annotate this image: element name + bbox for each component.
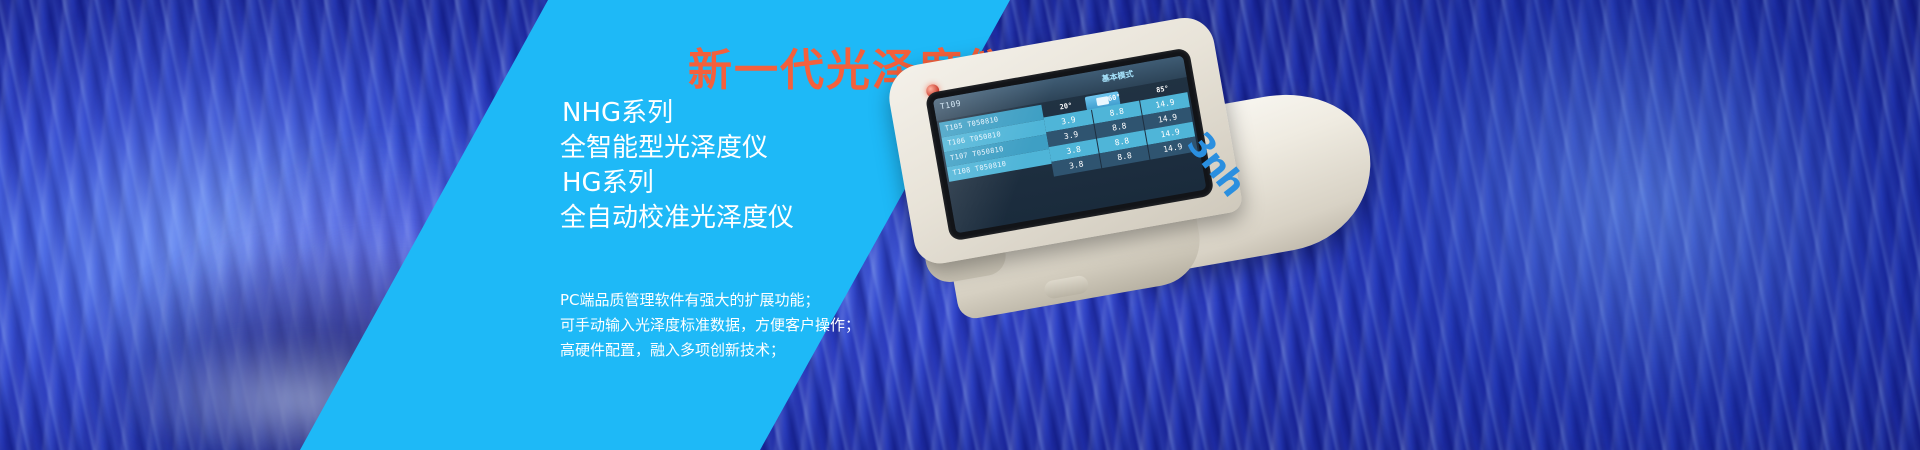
- device-screen-bezel: T109 基本模式 10:51 2019.05.08 T105 T050810 …: [925, 47, 1215, 241]
- device-screen: T109 基本模式 10:51 2019.05.08 T105 T050810 …: [933, 55, 1207, 233]
- device-body: T109 基本模式 10:51 2019.05.08 T105 T050810 …: [884, 0, 1396, 405]
- promo-banner: 新一代光泽度仪 NHG系列 全智能型光泽度仪 HG系列 全自动校准光泽度仪 PC…: [0, 0, 1920, 450]
- screen-glare: [933, 55, 1207, 233]
- gloss-meter-device: T109 基本模式 10:51 2019.05.08 T105 T050810 …: [880, 18, 1400, 418]
